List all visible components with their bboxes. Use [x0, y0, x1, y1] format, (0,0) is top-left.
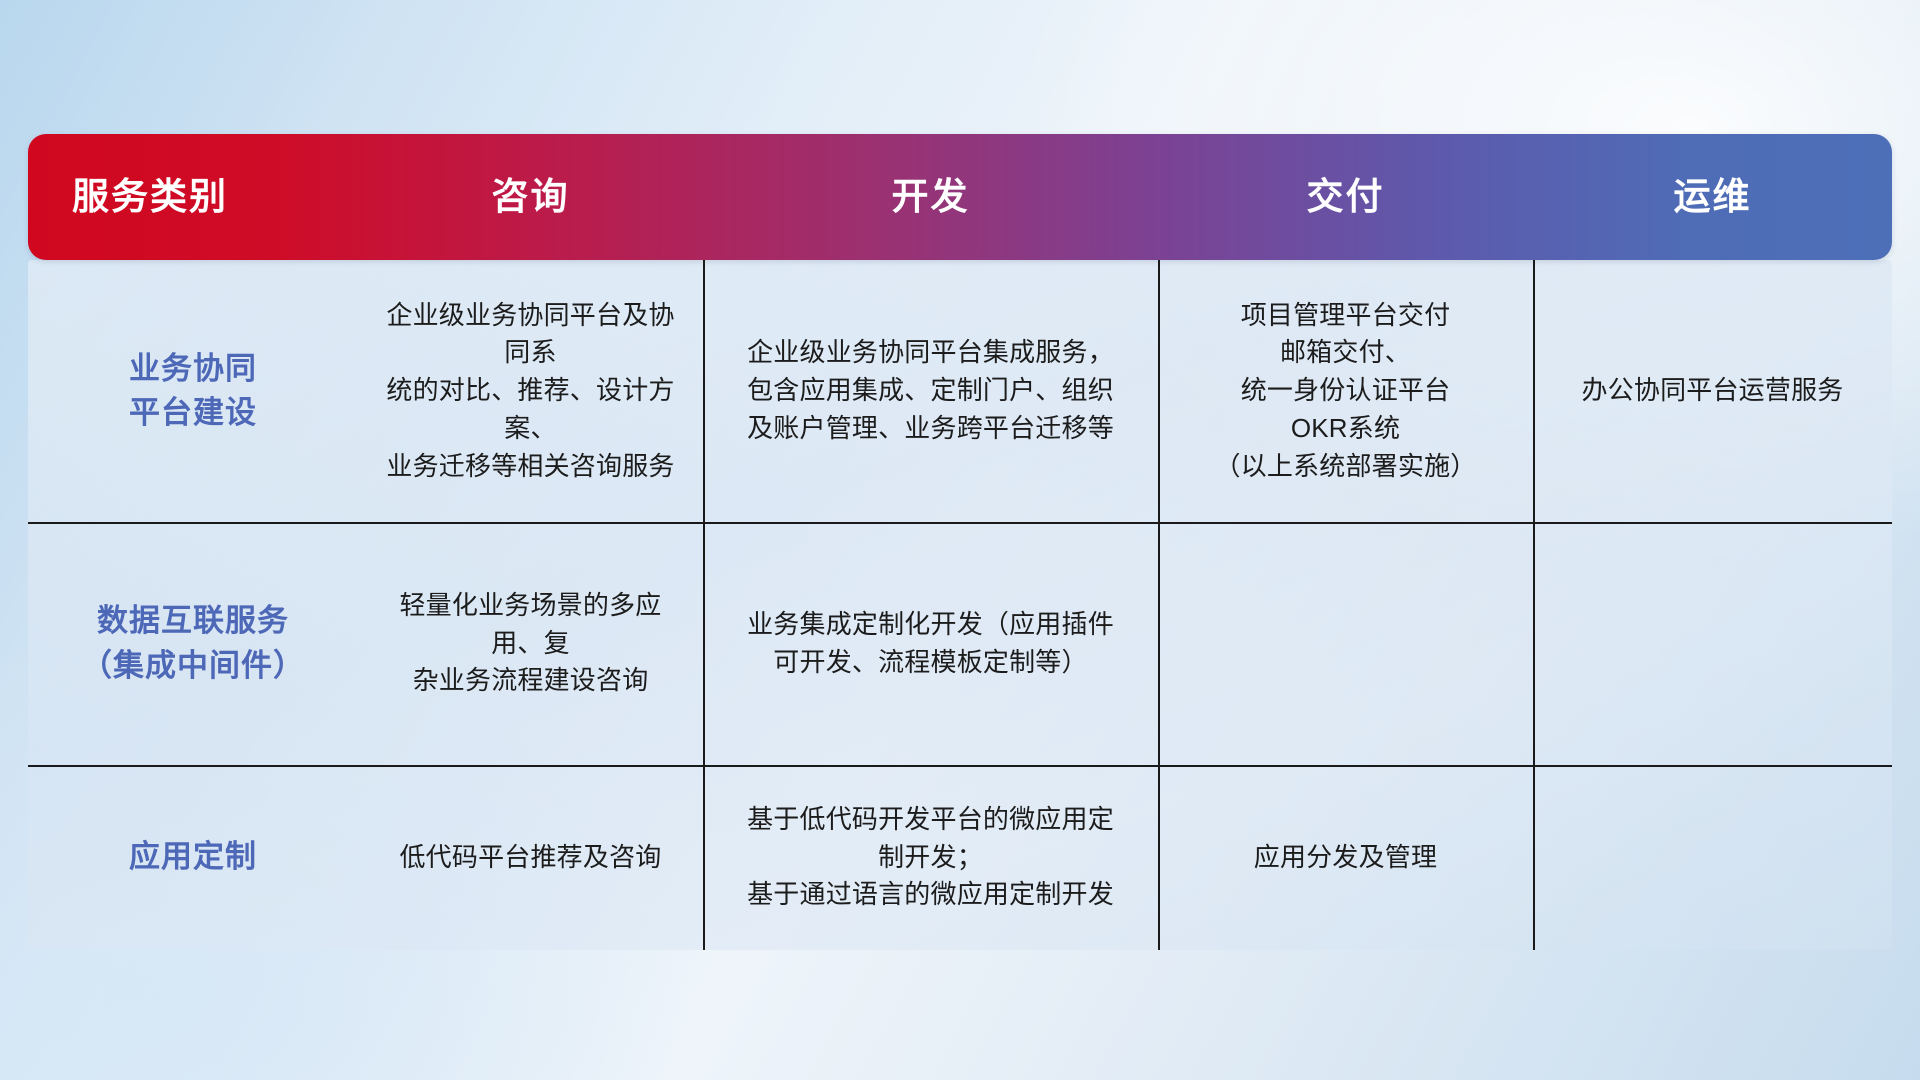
table-body: 业务协同 平台建设 企业级业务协同平台及协同系 统的对比、推荐、设计方案、 业务…	[28, 260, 1892, 950]
slide-root: 服务类别 咨询 开发 交付 运维 业务协同 平台建设 企业级业务协同平台及协同系…	[0, 0, 1920, 1080]
category-label: 业务协同 平台建设	[129, 347, 257, 435]
cell-delivery: 应用分发及管理	[1158, 765, 1533, 950]
cell-development: 企业级业务协同平台集成服务， 包含应用集成、定制门户、组织 及账户管理、业务跨平…	[703, 260, 1158, 522]
cell-text: 项目管理平台交付 邮箱交付、 统一身份认证平台 OKR系统 （以上系统部署实施）	[1214, 297, 1476, 485]
column-header-operations: 运维	[1533, 177, 1892, 218]
cell-consulting: 企业级业务协同平台及协同系 统的对比、推荐、设计方案、 业务迁移等相关咨询服务	[358, 260, 703, 522]
table-row: 数据互联服务 （集成中间件） 轻量化业务场景的多应用、复 杂业务流程建设咨询 业…	[28, 522, 1892, 765]
category-label: 应用定制	[129, 835, 257, 879]
category-label: 数据互联服务 （集成中间件）	[81, 599, 305, 687]
service-matrix-table: 服务类别 咨询 开发 交付 运维 业务协同 平台建设 企业级业务协同平台及协同系…	[28, 134, 1892, 950]
cell-text: 轻量化业务场景的多应用、复 杂业务流程建设咨询	[376, 587, 685, 700]
cell-operations	[1533, 522, 1892, 765]
column-header-category: 服务类别	[28, 177, 358, 218]
cell-text: 基于低代码开发平台的微应用定 制开发； 基于通过语言的微应用定制开发	[747, 801, 1114, 914]
cell-development: 基于低代码开发平台的微应用定 制开发； 基于通过语言的微应用定制开发	[703, 765, 1158, 950]
table-row: 业务协同 平台建设 企业级业务协同平台及协同系 统的对比、推荐、设计方案、 业务…	[28, 260, 1892, 522]
column-header-consulting: 咨询	[358, 177, 703, 218]
table-header-row: 服务类别 咨询 开发 交付 运维	[28, 134, 1892, 260]
cell-development: 业务集成定制化开发（应用插件 可开发、流程模板定制等）	[703, 522, 1158, 765]
table-row: 应用定制 低代码平台推荐及咨询 基于低代码开发平台的微应用定 制开发； 基于通过…	[28, 765, 1892, 950]
cell-text: 业务集成定制化开发（应用插件 可开发、流程模板定制等）	[747, 606, 1114, 681]
cell-text: 企业级业务协同平台及协同系 统的对比、推荐、设计方案、 业务迁移等相关咨询服务	[376, 297, 685, 485]
cell-operations: 办公协同平台运营服务	[1533, 260, 1892, 522]
cell-text: 应用分发及管理	[1254, 839, 1437, 877]
column-header-development: 开发	[703, 177, 1158, 218]
column-header-delivery: 交付	[1158, 177, 1533, 218]
cell-category: 业务协同 平台建设	[28, 260, 358, 522]
cell-delivery: 项目管理平台交付 邮箱交付、 统一身份认证平台 OKR系统 （以上系统部署实施）	[1158, 260, 1533, 522]
cell-consulting: 轻量化业务场景的多应用、复 杂业务流程建设咨询	[358, 522, 703, 765]
cell-category: 应用定制	[28, 765, 358, 950]
cell-consulting: 低代码平台推荐及咨询	[358, 765, 703, 950]
cell-category: 数据互联服务 （集成中间件）	[28, 522, 358, 765]
cell-text: 低代码平台推荐及咨询	[399, 839, 661, 877]
cell-text: 企业级业务协同平台集成服务， 包含应用集成、定制门户、组织 及账户管理、业务跨平…	[747, 334, 1114, 447]
cell-operations	[1533, 765, 1892, 950]
cell-text: 办公协同平台运营服务	[1581, 372, 1843, 410]
cell-delivery	[1158, 522, 1533, 765]
